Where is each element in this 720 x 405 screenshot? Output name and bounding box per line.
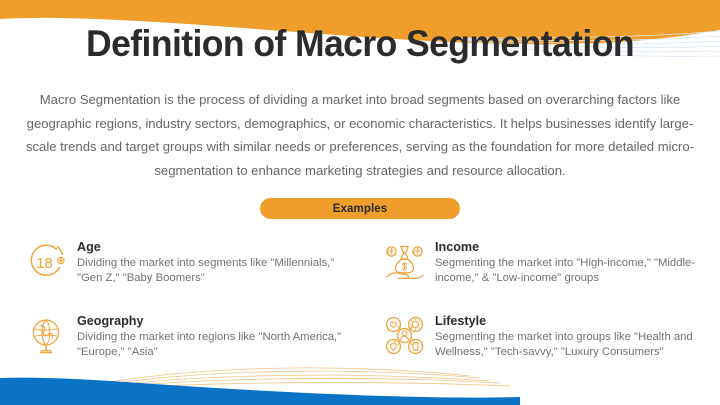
lifestyle-network-icon (384, 315, 426, 357)
example-title-income: Income (435, 239, 703, 255)
age-18-plus-icon: 18 (26, 241, 68, 283)
example-title-geography: Geography (77, 313, 345, 329)
globe-on-stand-icon (26, 315, 68, 357)
example-text-lifestyle: Lifestyle Segmenting the market into gro… (435, 312, 703, 359)
example-title-lifestyle: Lifestyle (435, 313, 703, 329)
page-title: Definition of Macro Segmentation (14, 22, 705, 66)
example-text-age: Age Dividing the market into segments li… (77, 238, 345, 285)
example-item-age: 18 Age Dividing the market into segments… (26, 238, 374, 312)
example-text-income: Income Segmenting the market into "High-… (435, 238, 703, 285)
examples-badge: Examples (260, 198, 460, 219)
example-item-geography: Geography Dividing the market into regio… (26, 312, 374, 386)
example-desc-age: Dividing the market into segments like "… (77, 256, 345, 285)
intro-paragraph: Macro Segmentation is the process of div… (14, 88, 706, 182)
examples-grid: 18 Age Dividing the market into segments… (0, 238, 720, 386)
example-text-geography: Geography Dividing the market into regio… (77, 312, 345, 359)
examples-badge-label: Examples (333, 203, 388, 215)
example-desc-lifestyle: Segmenting the market into groups like "… (435, 330, 703, 359)
example-item-income: Income Segmenting the market into "High-… (384, 238, 720, 312)
age-icon-value: 18 (36, 255, 53, 272)
example-desc-geography: Dividing the market into regions like "N… (77, 330, 345, 359)
money-bag-in-hand-icon (384, 241, 426, 283)
example-desc-income: Segmenting the market into "High-income,… (435, 256, 703, 285)
example-title-age: Age (77, 239, 345, 255)
example-item-lifestyle: Lifestyle Segmenting the market into gro… (384, 312, 720, 386)
slide-canvas: Definition of Macro Segmentation Macro S… (0, 0, 720, 405)
